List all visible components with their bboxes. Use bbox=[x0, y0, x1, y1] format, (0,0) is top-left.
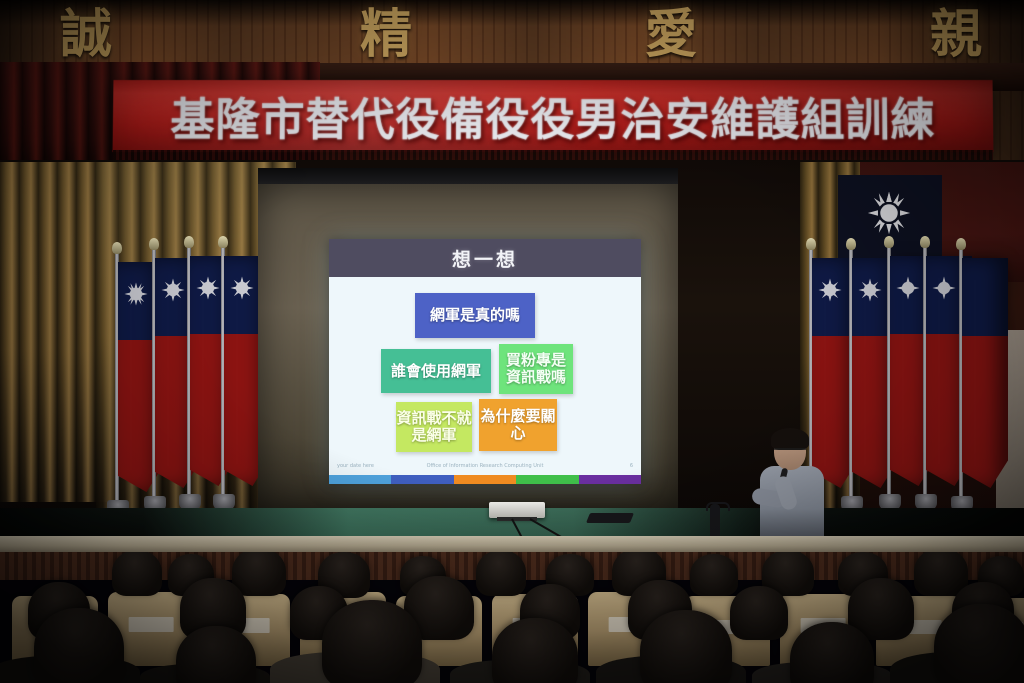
ribbon-segment bbox=[516, 475, 578, 484]
slide-box-0: 網軍是真的嗎 bbox=[415, 293, 535, 338]
auditorium-training-photo: 誠 精 愛 親 基隆市替代役備役役男治安維護組訓練 bbox=[0, 0, 1024, 683]
slide-box-3: 資訊戰不就是網軍 bbox=[396, 402, 472, 452]
slide-box-4: 為什麼要關心 bbox=[479, 399, 557, 451]
flag-finial bbox=[806, 238, 816, 250]
flag-finial bbox=[149, 238, 159, 250]
presenter bbox=[758, 432, 830, 542]
slide-footer: your date here Office of Information Res… bbox=[329, 463, 641, 475]
presenter-hair bbox=[771, 428, 809, 450]
ribbon-segment bbox=[329, 475, 391, 484]
audience-head bbox=[322, 600, 422, 683]
slide-box-1: 誰會使用網軍 bbox=[381, 349, 491, 393]
roc-sun-icon bbox=[196, 276, 220, 300]
audience-head bbox=[176, 626, 256, 683]
ribbon-segment bbox=[579, 475, 641, 484]
flag-finial bbox=[218, 236, 228, 248]
roc-sun-icon bbox=[161, 278, 185, 302]
flag-finial bbox=[956, 238, 966, 250]
audience-head bbox=[112, 552, 162, 596]
banner-title: 基隆市替代役備役役男治安維護組訓練 bbox=[113, 84, 994, 148]
wall-character-1: 誠 bbox=[60, 2, 112, 68]
flag-finial bbox=[112, 242, 122, 254]
ribbon-segment bbox=[454, 475, 516, 484]
screen-housing bbox=[258, 168, 678, 184]
slide-box-2: 買粉專是資訊戰嗎 bbox=[499, 344, 573, 394]
audience-head bbox=[730, 586, 788, 640]
slide-footer-center: Office of Information Research Computing… bbox=[427, 463, 544, 469]
flag-cloth bbox=[962, 258, 1008, 488]
roc-sun-icon bbox=[932, 276, 956, 300]
slide-footer-left: your date here bbox=[337, 463, 374, 469]
slide-footer-right: 6 bbox=[630, 463, 633, 469]
seat-number-plate bbox=[129, 617, 174, 632]
wall-character-3: 愛 bbox=[645, 2, 697, 68]
slide-body: 網軍是真的嗎 誰會使用網軍 買粉專是資訊戰嗎 資訊戰不就是網軍 為什麼要關心 bbox=[329, 277, 641, 465]
event-banner: 基隆市替代役備役役男治安維護組訓練 bbox=[113, 80, 994, 152]
roc-sun-icon bbox=[896, 276, 920, 300]
audience-area bbox=[0, 552, 1024, 683]
slide-ribbon bbox=[329, 475, 641, 484]
roc-sun-icon bbox=[858, 278, 882, 302]
luggage-handle-top bbox=[706, 502, 730, 511]
audience-head bbox=[934, 604, 1024, 683]
laptop bbox=[586, 513, 634, 523]
flag-finial bbox=[920, 236, 930, 248]
projector bbox=[489, 502, 545, 518]
audience-head bbox=[640, 610, 732, 683]
audience-head bbox=[690, 554, 738, 596]
audience-head bbox=[790, 622, 874, 683]
glasses-icon bbox=[774, 448, 806, 457]
slide-title: 想一想 bbox=[329, 245, 641, 272]
flag-finial bbox=[184, 236, 194, 248]
flag-finial bbox=[846, 238, 856, 250]
roc-sun-emblem-icon bbox=[866, 190, 912, 236]
roc-sun-icon bbox=[230, 276, 254, 300]
roc-sun-icon bbox=[124, 282, 148, 306]
wall-character-4: 親 bbox=[930, 2, 982, 68]
projected-slide: 想一想 網軍是真的嗎 誰會使用網軍 買粉專是資訊戰嗎 資訊戰不就是網軍 為什麼要… bbox=[329, 239, 641, 484]
wall-character-2: 精 bbox=[360, 2, 412, 68]
audience-head bbox=[34, 608, 124, 683]
roc-sun-icon bbox=[818, 278, 842, 302]
ribbon-segment bbox=[391, 475, 453, 484]
audience-head bbox=[232, 552, 286, 596]
flag-finial bbox=[884, 236, 894, 248]
audience-head bbox=[476, 552, 526, 596]
audience-head bbox=[492, 618, 578, 683]
